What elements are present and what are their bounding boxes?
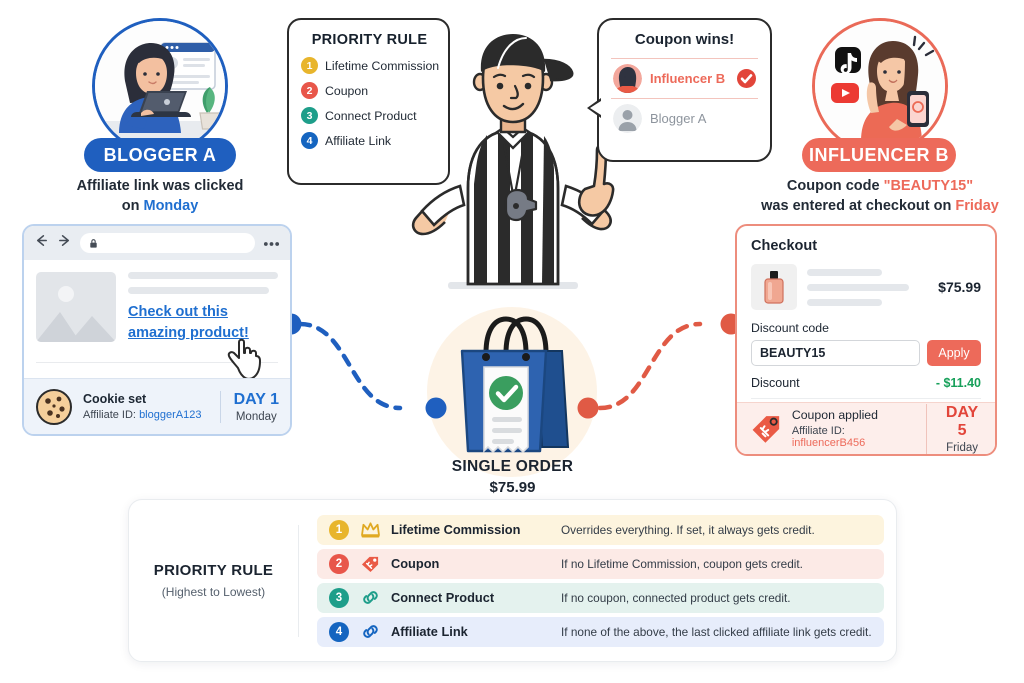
checkout-product-skeletons — [807, 269, 928, 306]
rule-row-3: 3 Connect Product If no coupon, connecte… — [317, 583, 884, 613]
coupon-bubble-winner-row: Influencer B — [611, 58, 758, 99]
rule-badge-4: 4 — [329, 622, 349, 642]
influencer-coupon-code: "BEAUTY15" — [884, 178, 974, 194]
browser-text-column: Check out this amazing product! — [128, 272, 278, 344]
blogger-a-badge-label: BLOGGER A — [104, 145, 217, 166]
rule-label-1: Lifetime Commission — [391, 522, 551, 537]
discount-code-input[interactable]: BEAUTY15 — [751, 340, 920, 366]
rule-desc-3: If no coupon, connected product gets cre… — [561, 591, 791, 605]
browser-mockup: Check out this amazing product! Cookie s… — [22, 224, 292, 436]
browser-toolbar — [24, 226, 290, 260]
priority-label-2: Coupon — [325, 84, 368, 98]
checkout-separator — [751, 398, 981, 399]
affiliate-id-label: Affiliate ID: — [792, 425, 845, 437]
influencer-caption-prefix2: was entered at checkout on — [761, 198, 955, 214]
rule-badge-2: 2 — [329, 554, 349, 574]
influencer-caption-prefix: Coupon code — [787, 178, 884, 194]
url-bar[interactable] — [80, 233, 255, 253]
blogger-a-caption-line1: Affiliate link was clicked — [30, 176, 290, 196]
coupon-bubble-title: Coupon wins! — [611, 31, 758, 48]
priority-label-3: Connect Product — [325, 109, 417, 123]
rule-badge-1: 1 — [329, 520, 349, 540]
blogger-caption-prefix: on — [122, 198, 144, 214]
skeleton-line — [807, 269, 882, 276]
priority-rule-table: PRIORITY RULE (Highest to Lowest) 1 Life… — [128, 499, 897, 662]
day-badge-blogger: DAY 1 Monday — [220, 391, 279, 423]
link-chain-icon — [359, 588, 381, 607]
apply-button[interactable]: Apply — [927, 340, 981, 366]
link-chain-icon — [359, 622, 381, 641]
day-weekday: Friday — [940, 442, 984, 454]
cookie-icon — [35, 388, 73, 426]
lock-icon — [88, 238, 99, 249]
rule-label-4: Affiliate Link — [391, 624, 551, 639]
cookie-affiliate-line: Affiliate ID: bloggerA123 — [83, 409, 201, 421]
shopping-bag-receipt-icon — [440, 305, 585, 465]
rule-row-1: 1 Lifetime Commission Overrides everythi… — [317, 515, 884, 545]
cookie-text: Cookie set Affiliate ID: bloggerA123 — [83, 392, 201, 421]
order-label: SINGLE ORDER $75.99 — [410, 458, 615, 496]
discount-row: Discount - $11.40 — [737, 376, 995, 390]
influencer-avatar-icon — [613, 64, 642, 93]
skeleton-line — [807, 299, 882, 306]
bubble-tail — [587, 98, 601, 118]
discount-code-row: BEAUTY15 Apply — [737, 340, 995, 366]
order-amount: $75.99 — [410, 479, 615, 496]
check-circle-icon — [737, 69, 756, 88]
image-placeholder-icon — [36, 272, 116, 342]
more-dots-icon[interactable] — [263, 234, 280, 252]
influencer-caption-day: Friday — [955, 198, 999, 214]
discount-row-value: - $11.40 — [936, 376, 981, 390]
infographic-canvas: BLOGGER A Affiliate link was clicked on … — [0, 0, 1024, 683]
day-badge-influencer: DAY 5 Friday — [926, 404, 984, 454]
discount-row-label: Discount — [751, 376, 800, 390]
priority-badge-1: 1 — [301, 57, 318, 74]
blogger-a-avatar — [92, 18, 228, 154]
priority-rule-table-heading: PRIORITY RULE (Highest to Lowest) — [129, 525, 299, 637]
rule-badge-3: 3 — [329, 588, 349, 608]
discount-tag-icon — [359, 554, 381, 573]
checkout-card: Checkout $75.99 Discount code BEAUTY15 A… — [735, 224, 997, 456]
rule-desc-4: If none of the above, the last clicked a… — [561, 625, 872, 639]
coupon-bubble-winner-name: Influencer B — [650, 71, 725, 86]
blogger-caption-day: Monday — [143, 198, 198, 214]
product-link[interactable]: Check out this amazing product! — [128, 304, 249, 341]
rule-table-subtitle: (Highest to Lowest) — [129, 585, 298, 599]
coupon-wins-bubble: Coupon wins! Influencer B — [597, 18, 772, 162]
skeleton-line — [807, 284, 909, 291]
coupon-applied-text: Coupon applied Affiliate ID: influencerB… — [792, 408, 917, 449]
rule-label-2: Coupon — [391, 556, 551, 571]
blogger-a-caption: Affiliate link was clicked on Monday — [30, 176, 290, 216]
discount-code-label: Discount code — [751, 321, 995, 335]
priority-label-1: Lifetime Commission — [325, 59, 439, 73]
influencer-caption-line1: Coupon code "BEAUTY15" — [740, 176, 1020, 196]
rule-row-4: 4 Affiliate Link If none of the above, t… — [317, 617, 884, 647]
coupon-applied-strip: Coupon applied Affiliate ID: influencerB… — [737, 402, 995, 454]
coupon-applied-title: Coupon applied — [792, 408, 917, 422]
priority-rule-rows: 1 Lifetime Commission Overrides everythi… — [299, 505, 896, 657]
influencer-b-caption: Coupon code "BEAUTY15" was entered at ch… — [740, 176, 1020, 216]
checkout-title: Checkout — [751, 238, 995, 254]
priority-badge-3: 3 — [301, 107, 318, 124]
skeleton-line — [128, 272, 278, 279]
rule-desc-2: If no Lifetime Commission, coupon gets c… — [561, 557, 803, 571]
skeleton-line — [128, 287, 269, 294]
priority-card-item-2: 2 Coupon — [301, 82, 438, 99]
cosmetic-bottle-icon — [751, 264, 797, 310]
cookie-title: Cookie set — [83, 392, 201, 406]
day-number: DAY 5 — [940, 404, 984, 440]
influencer-caption-line2: was entered at checkout on Friday — [740, 196, 1020, 216]
crown-icon — [359, 521, 381, 538]
priority-badge-4: 4 — [301, 132, 318, 149]
rule-desc-1: Overrides everything. If set, it always … — [561, 523, 815, 537]
order-title: SINGLE ORDER — [410, 458, 615, 476]
blogger-a-badge: BLOGGER A — [84, 138, 236, 172]
product-link-line1: Check out this — [128, 304, 228, 320]
day-weekday: Monday — [234, 411, 279, 423]
arrow-right-icon[interactable] — [57, 233, 72, 253]
coupon-tag-icon — [748, 411, 783, 447]
priority-card-item-1: 1 Lifetime Commission — [301, 57, 438, 74]
affiliate-id-value: bloggerA123 — [139, 409, 201, 421]
priority-card-item-4: 4 Affiliate Link — [301, 132, 438, 149]
rule-label-3: Connect Product — [391, 590, 551, 605]
checkout-product-price: $75.99 — [938, 279, 981, 295]
coupon-bubble-loser-row: Blogger A — [611, 99, 758, 138]
influencer-b-avatar — [812, 18, 948, 154]
checkout-product-row: $75.99 — [737, 264, 995, 310]
rule-row-2: 2 Coupon If no Lifetime Commission, coup… — [317, 549, 884, 579]
priority-rule-card: PRIORITY RULE 1 Lifetime Commission 2 Co… — [287, 18, 450, 185]
priority-badge-2: 2 — [301, 82, 318, 99]
affiliate-id-label: Affiliate ID: — [83, 409, 136, 421]
priority-card-title: PRIORITY RULE — [301, 32, 438, 48]
blogger-a-caption-line2: on Monday — [30, 196, 290, 216]
priority-label-4: Affiliate Link — [325, 134, 391, 148]
day-number: DAY 1 — [234, 391, 279, 409]
priority-card-item-3: 3 Connect Product — [301, 107, 438, 124]
arrow-left-icon[interactable] — [34, 233, 49, 253]
rule-table-title: PRIORITY RULE — [129, 562, 298, 579]
influencer-b-badge: INFLUENCER B — [802, 138, 956, 172]
coupon-affiliate-line: Affiliate ID: influencerB456 — [792, 425, 917, 449]
cookie-set-strip: Cookie set Affiliate ID: bloggerA123 DAY… — [24, 378, 290, 434]
influencer-b-badge-label: INFLUENCER B — [809, 145, 949, 166]
generic-person-avatar-icon — [613, 104, 642, 133]
affiliate-id-value: influencerB456 — [792, 437, 865, 449]
coupon-bubble-loser-name: Blogger A — [650, 111, 706, 126]
